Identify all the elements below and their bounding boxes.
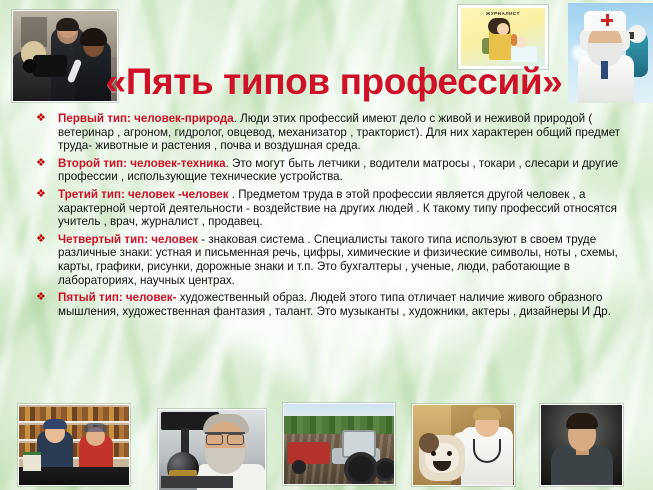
- journalist-interview-photo: [12, 10, 118, 102]
- young-man-portrait-photo: [540, 404, 623, 486]
- profession-types-list: ❖ Первый тип: человек-природа. Люди этих…: [30, 112, 630, 322]
- diamond-bullet-icon: ❖: [36, 156, 46, 170]
- diamond-bullet-icon: ❖: [36, 232, 46, 246]
- list-item: ❖ Пятый тип: человек- художественный обр…: [30, 291, 630, 318]
- list-item-lead: Пятый тип: человек-: [58, 291, 176, 304]
- shop-cashier-photo: [18, 404, 130, 486]
- doctor-with-parrot-photo: [568, 3, 653, 103]
- tractor-field-photo: [283, 403, 395, 485]
- list-item-lead: Второй тип: человек-техника: [58, 157, 226, 170]
- journalist-cartoon-caption: ЖУРНАЛИСТ: [459, 11, 547, 16]
- list-item-lead: Четвертый тип: человек: [58, 233, 198, 246]
- scientist-laboratory-photo: [158, 409, 266, 490]
- page-title: «Пять типов профессий»: [104, 60, 564, 104]
- list-item: ❖ Четвертый тип: человек - знаковая сист…: [30, 233, 630, 287]
- diamond-bullet-icon: ❖: [36, 187, 46, 201]
- list-item: ❖ Третий тип: человек -человек . Предмет…: [30, 188, 630, 229]
- list-item-lead: Третий тип: человек -человек: [58, 188, 229, 201]
- list-item-lead: Первый тип: человек-природа: [58, 112, 234, 125]
- list-item: ❖ Первый тип: человек-природа. Люди этих…: [30, 112, 630, 153]
- diamond-bullet-icon: ❖: [36, 111, 46, 125]
- veterinarian-dog-photo: [412, 404, 515, 486]
- diamond-bullet-icon: ❖: [36, 290, 46, 304]
- slide-canvas: ЖУРНАЛИСТ «Пять типов профессий» ❖ Первы…: [0, 0, 653, 490]
- list-item: ❖ Второй тип: человек-техника. Это могут…: [30, 157, 630, 184]
